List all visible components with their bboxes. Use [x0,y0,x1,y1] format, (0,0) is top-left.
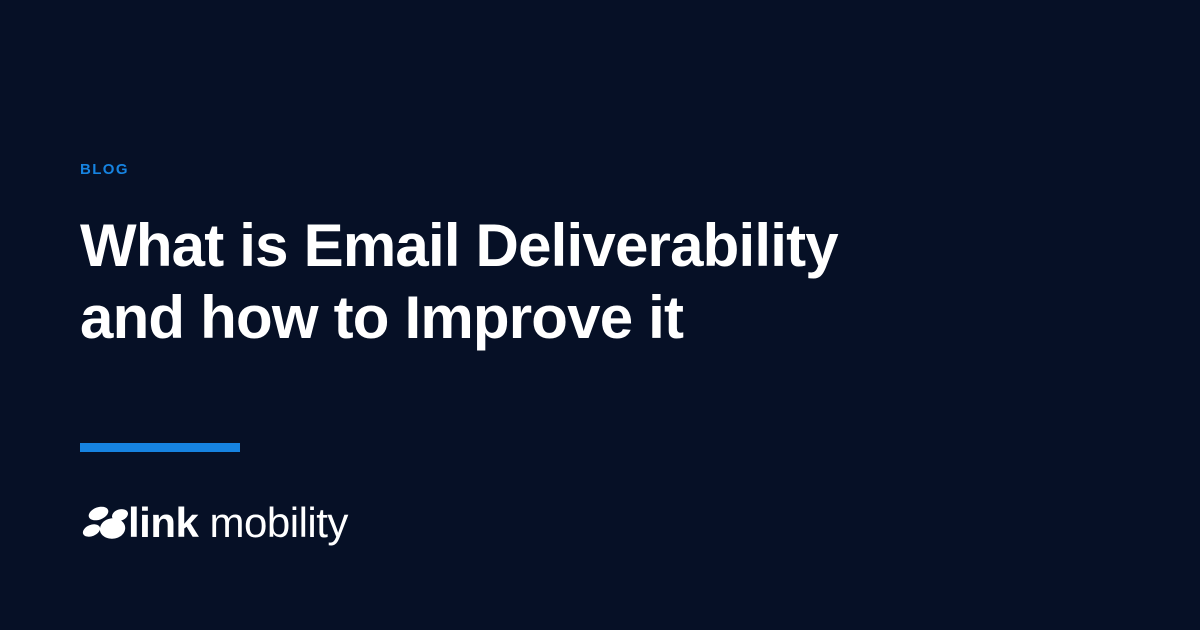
logo-wordmark: link mobility [128,502,348,544]
brand-logo: link mobility [80,499,348,547]
logo-wordmark-mobility: mobility [198,499,348,546]
social-share-card: BLOG What is Email Deliverability and ho… [0,0,1200,630]
page-title: What is Email Deliverability and how to … [80,210,880,354]
card-content: BLOG What is Email Deliverability and ho… [80,160,920,354]
link-mobility-logo-mark-icon [80,503,128,543]
logo-wordmark-link: link [128,499,198,546]
logo-mark-wrapper [80,503,128,543]
category-eyebrow: BLOG [80,160,920,180]
accent-divider [80,443,240,452]
